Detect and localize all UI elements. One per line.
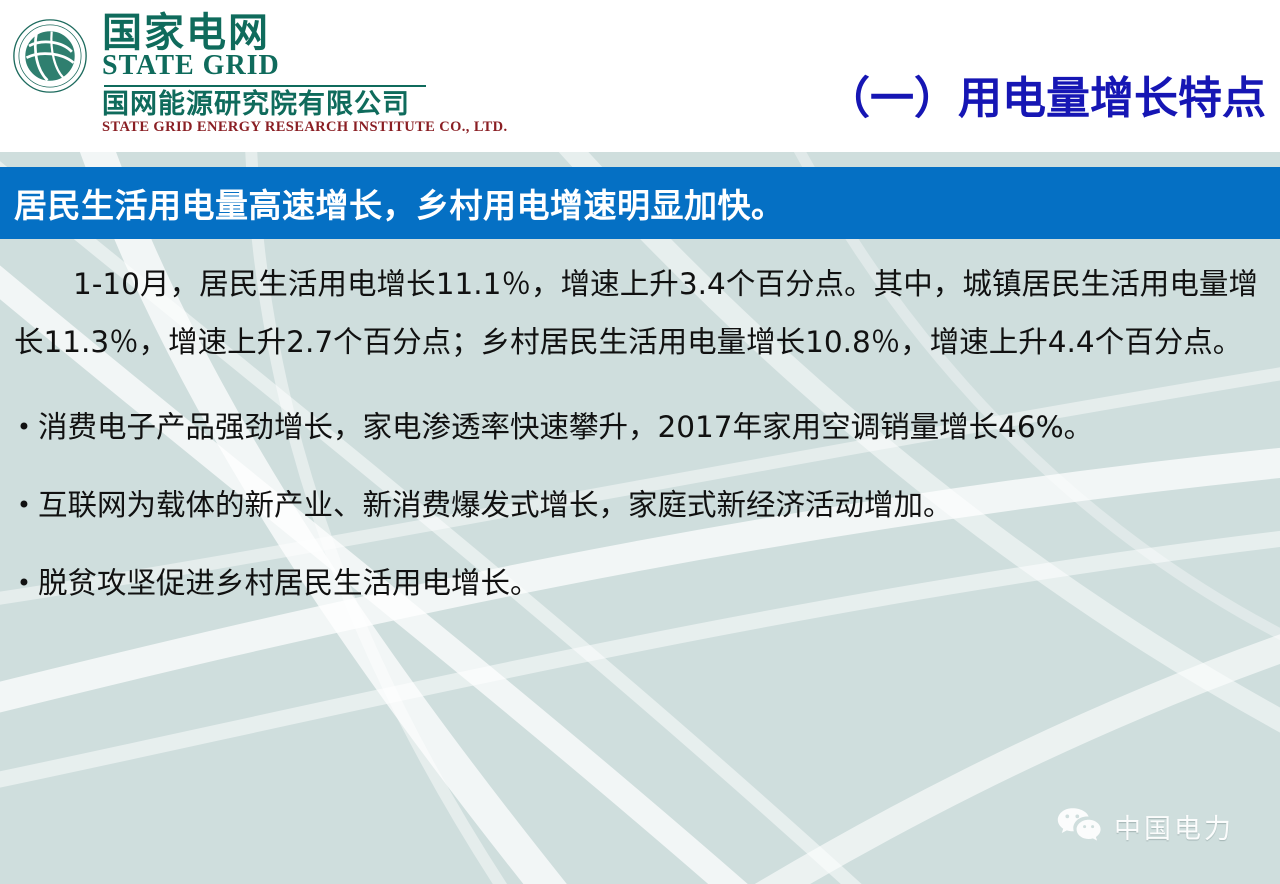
section-banner: 居民生活用电量高速增长，乡村用电增速明显加快。 (0, 167, 1280, 239)
wechat-watermark: 中国电力 (1056, 806, 1234, 846)
bullet-marker-icon: • (10, 399, 38, 455)
bullet-list: • 消费电子产品强劲增长，家电渗透率快速攀升，2017年家用空调销量增长46%。… (0, 399, 1280, 611)
bullet-marker-icon: • (10, 555, 38, 611)
logo-divider (104, 85, 426, 87)
list-item: • 消费电子产品强劲增长，家电渗透率快速攀升，2017年家用空调销量增长46%。 (0, 399, 1280, 455)
logo-institute-en: STATE GRID ENERGY RESEARCH INSTITUTE CO.… (102, 120, 508, 136)
page-title: （一）用电量增长特点 (826, 62, 1266, 126)
logo-company-cn: 国家电网 (102, 12, 508, 54)
list-item-text: 消费电子产品强劲增长，家电渗透率快速攀升，2017年家用空调销量增长46%。 (38, 399, 1262, 455)
state-grid-logo: 国家电网 STATE GRID 国网能源研究院有限公司 STATE GRID E… (8, 10, 508, 136)
logo-company-en: STATE GRID (102, 52, 508, 80)
watermark-label: 中国电力 (1114, 807, 1234, 846)
list-item: • 脱贫攻坚促进乡村居民生活用电增长。 (0, 555, 1280, 611)
section-banner-text: 居民生活用电量高速增长，乡村用电增速明显加快。 (0, 179, 785, 227)
list-item-text: 脱贫攻坚促进乡村居民生活用电增长。 (38, 555, 1262, 611)
bullet-marker-icon: • (10, 477, 38, 533)
body-paragraph: 1-10月，居民生活用电增长11.1％，增速上升3.4个百分点。其中，城镇居民生… (0, 255, 1280, 371)
state-grid-emblem-icon (8, 14, 92, 98)
slide-header: 国家电网 STATE GRID 国网能源研究院有限公司 STATE GRID E… (0, 0, 1280, 152)
wechat-icon (1056, 806, 1102, 846)
slide-body: 1-10月，居民生活用电增长11.1％，增速上升3.4个百分点。其中，城镇居民生… (0, 255, 1280, 633)
slide-canvas: 国家电网 STATE GRID 国网能源研究院有限公司 STATE GRID E… (0, 0, 1280, 884)
list-item: • 互联网为载体的新产业、新消费爆发式增长，家庭式新经济活动增加。 (0, 477, 1280, 533)
list-item-text: 互联网为载体的新产业、新消费爆发式增长，家庭式新经济活动增加。 (38, 477, 1262, 533)
logo-institute-cn: 国网能源研究院有限公司 (102, 91, 508, 119)
